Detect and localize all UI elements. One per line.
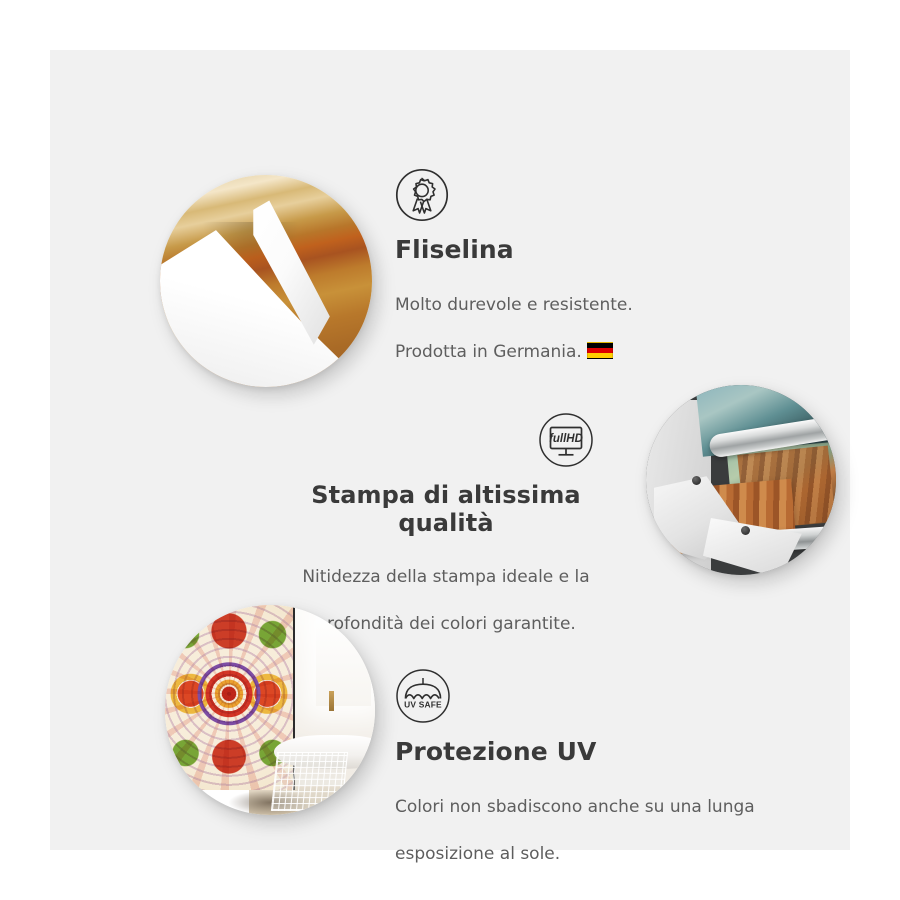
uv-safe-umbrella-icon-wrap: UV SAFE bbox=[395, 668, 795, 724]
press-knob-mid bbox=[741, 526, 750, 535]
mandala-pattern bbox=[165, 605, 293, 790]
feature-desc-uv-line2: esposizione al sole. bbox=[395, 844, 560, 864]
room-window bbox=[316, 613, 371, 705]
fullhd-monitor-icon-wrap: fullHD bbox=[280, 412, 612, 468]
wallpaper-roll-photo-inner bbox=[160, 175, 372, 387]
germany-flag-icon bbox=[587, 342, 613, 359]
content-canvas: Fliselina Molto durevole e resistente. P… bbox=[50, 50, 850, 850]
feature-title-uv: Protezione UV bbox=[395, 738, 795, 767]
page-root: Fliselina Molto durevole e resistente. P… bbox=[0, 0, 900, 900]
feature-desc-uv: Colori non sbadiscono anche su una lunga… bbox=[395, 773, 795, 866]
mandala-room-photo-inner bbox=[165, 605, 375, 815]
feature-desc-fleece-line1: Molto durevole e resistente. bbox=[395, 295, 633, 315]
uv-safe-umbrella-icon: UV SAFE bbox=[395, 668, 451, 724]
uv-safe-icon-label: UV SAFE bbox=[404, 700, 442, 710]
wallpaper-roll-photo bbox=[160, 175, 372, 387]
feature-block-quality: fullHD Stampa di altissima qualità Nitid… bbox=[280, 412, 612, 636]
feature-desc-fleece-line2: Prodotta in Germania. bbox=[395, 342, 582, 362]
award-ribbon-icon-wrap bbox=[395, 168, 725, 222]
feature-desc-fleece: Molto durevole e resistente. Prodotta in… bbox=[395, 271, 725, 364]
feature-title-fleece: Fliselina bbox=[395, 236, 725, 265]
feature-block-fleece: Fliselina Molto durevole e resistente. P… bbox=[395, 168, 725, 364]
printing-press-photo bbox=[646, 385, 836, 575]
wire-chair bbox=[271, 752, 349, 811]
press-knob-left bbox=[692, 476, 701, 485]
feature-block-uv: UV SAFE Protezione UV Colori non sbadisc… bbox=[395, 668, 795, 866]
printing-press-photo-inner bbox=[646, 385, 836, 575]
feature-desc-quality-line1: Nitidezza della stampa ideale e la bbox=[302, 567, 589, 587]
feature-desc-uv-line1: Colori non sbadiscono anche su una lunga bbox=[395, 797, 755, 817]
feature-title-quality: Stampa di altissima qualità bbox=[280, 482, 612, 537]
award-ribbon-icon bbox=[395, 168, 449, 222]
fullhd-monitor-icon: fullHD bbox=[538, 412, 594, 468]
fullhd-icon-label: fullHD bbox=[549, 433, 583, 445]
mandala-room-photo bbox=[165, 605, 375, 815]
feature-desc-fleece-line2-wrap: Prodotta in Germania. bbox=[395, 342, 613, 362]
candle-holder bbox=[329, 691, 334, 711]
